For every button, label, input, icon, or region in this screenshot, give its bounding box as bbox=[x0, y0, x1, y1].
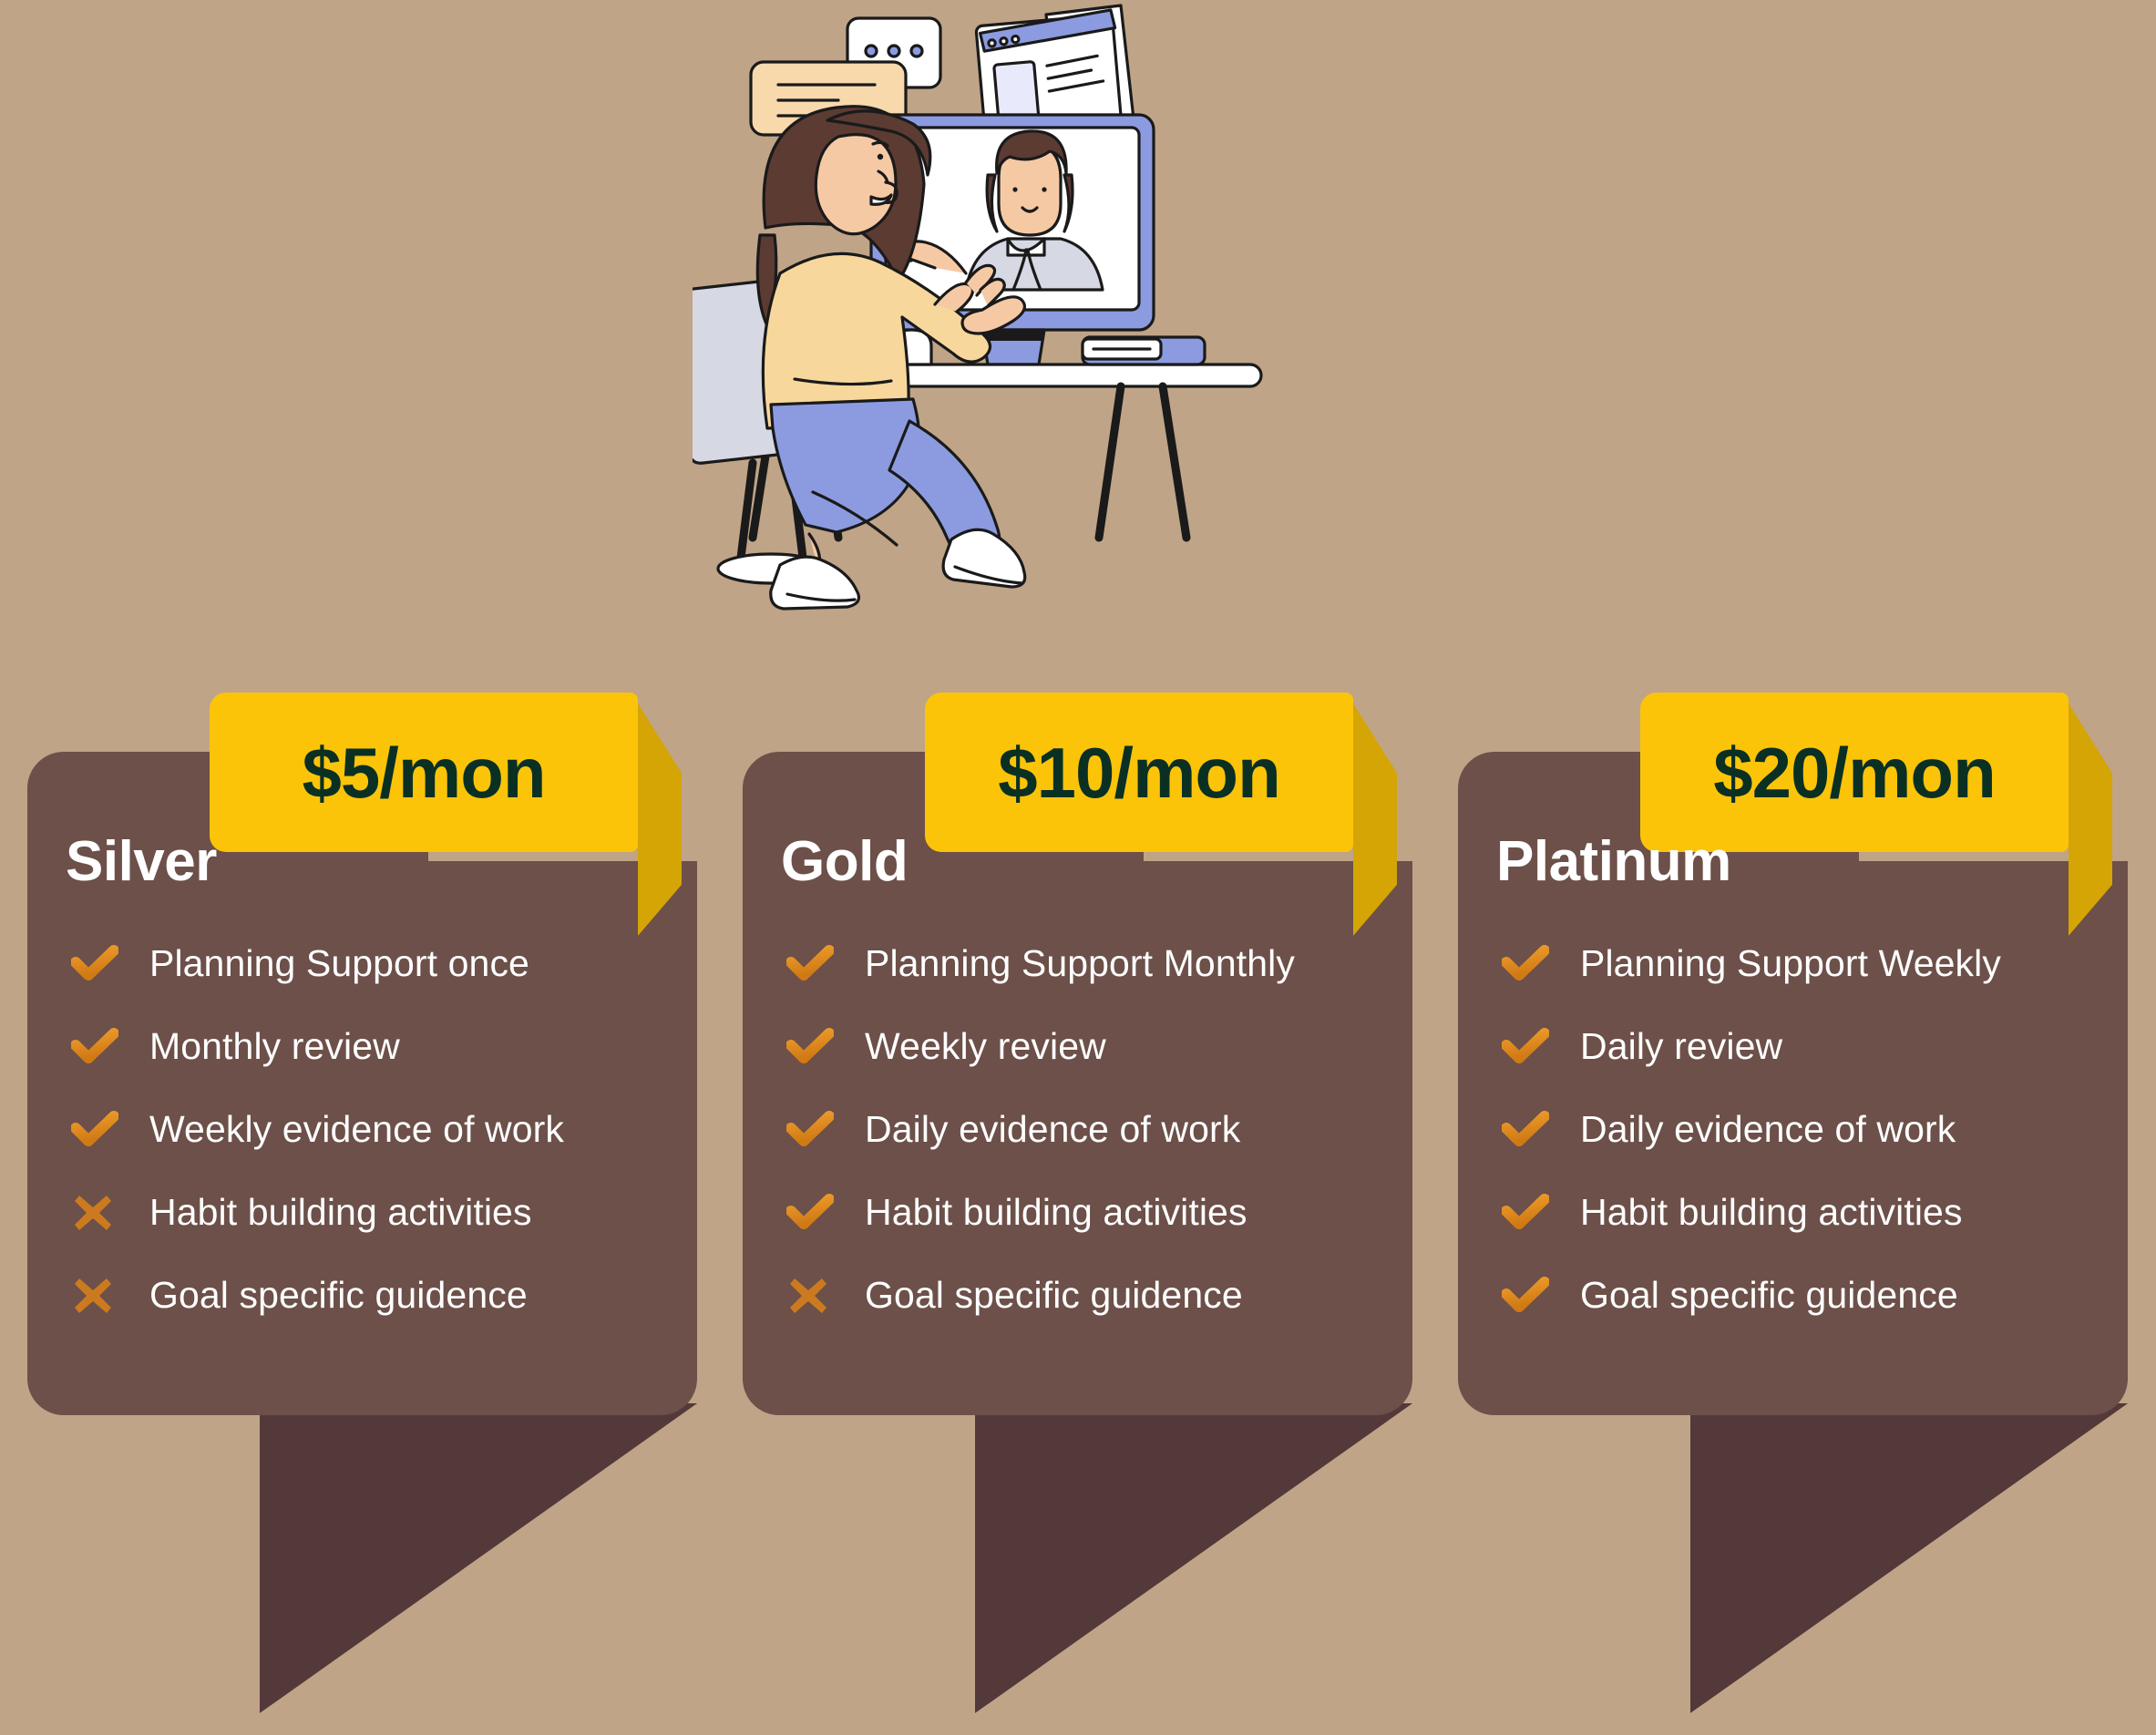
cross-icon bbox=[786, 1275, 865, 1317]
feature-item: Goal specific guidence bbox=[71, 1254, 672, 1337]
feature-label: Goal specific guidence bbox=[865, 1274, 1243, 1317]
video-call-illustration bbox=[693, 0, 1330, 638]
feature-label: Weekly review bbox=[865, 1025, 1106, 1068]
feature-list: Planning Support once Monthly review bbox=[71, 922, 672, 1337]
feature-label: Habit building activities bbox=[149, 1191, 532, 1234]
price-badge: $10/mon bbox=[925, 693, 1353, 852]
feature-item: Daily review bbox=[1502, 1005, 2103, 1088]
feature-item: Habit building activities bbox=[1502, 1171, 2103, 1254]
feature-item: Planning Support Weekly bbox=[1502, 922, 2103, 1005]
pricing-plans: $5/mon Silver Planning Support once bbox=[0, 693, 2156, 1735]
card-bottom-fold bbox=[1690, 1403, 2128, 1713]
plan-title: Silver bbox=[66, 829, 217, 894]
feature-item: Goal specific guidence bbox=[1502, 1254, 2103, 1337]
feature-item: Weekly evidence of work bbox=[71, 1088, 672, 1171]
pricing-plan-gold[interactable]: $10/mon Gold Planning Support Monthly bbox=[743, 693, 1426, 1735]
feature-label: Weekly evidence of work bbox=[149, 1108, 564, 1151]
check-icon bbox=[1502, 1028, 1580, 1066]
feature-label: Goal specific guidence bbox=[1580, 1274, 1958, 1317]
price-label: $10/mon bbox=[998, 737, 1279, 808]
check-icon bbox=[786, 1111, 865, 1149]
check-icon bbox=[71, 945, 149, 983]
check-icon bbox=[786, 1194, 865, 1232]
feature-label: Daily evidence of work bbox=[865, 1108, 1240, 1151]
feature-item: Planning Support Monthly bbox=[786, 922, 1388, 1005]
check-icon bbox=[71, 1111, 149, 1149]
price-badge: $5/mon bbox=[210, 693, 638, 852]
cross-icon bbox=[71, 1275, 149, 1317]
feature-item: Daily evidence of work bbox=[1502, 1088, 2103, 1171]
feature-label: Planning Support Weekly bbox=[1580, 942, 2001, 985]
check-icon bbox=[786, 945, 865, 983]
feature-item: Goal specific guidence bbox=[786, 1254, 1388, 1337]
feature-label: Daily evidence of work bbox=[1580, 1108, 1956, 1151]
feature-label: Planning Support Monthly bbox=[865, 942, 1295, 985]
feature-list: Planning Support Monthly Weekly review bbox=[786, 922, 1388, 1337]
feature-label: Planning Support once bbox=[149, 942, 529, 985]
card-bottom-fold bbox=[975, 1403, 1412, 1713]
cross-icon bbox=[71, 1192, 149, 1234]
price-label: $5/mon bbox=[302, 737, 545, 808]
feature-label: Goal specific guidence bbox=[149, 1274, 528, 1317]
plan-title: Gold bbox=[781, 829, 908, 894]
plan-title: Platinum bbox=[1496, 829, 1731, 894]
check-icon bbox=[1502, 1111, 1580, 1149]
card-bottom-fold bbox=[260, 1403, 697, 1713]
check-icon bbox=[1502, 1194, 1580, 1232]
check-icon bbox=[1502, 945, 1580, 983]
check-icon bbox=[1502, 1277, 1580, 1315]
feature-item: Weekly review bbox=[786, 1005, 1388, 1088]
pricing-page: $5/mon Silver Planning Support once bbox=[0, 0, 2156, 1735]
check-icon bbox=[71, 1028, 149, 1066]
pricing-plan-platinum[interactable]: $20/mon Platinum Planning Support Weekly bbox=[1458, 693, 2141, 1735]
feature-item: Planning Support once bbox=[71, 922, 672, 1005]
feature-list: Planning Support Weekly Daily review bbox=[1502, 922, 2103, 1337]
feature-item: Daily evidence of work bbox=[786, 1088, 1388, 1171]
pricing-plan-silver[interactable]: $5/mon Silver Planning Support once bbox=[27, 693, 711, 1735]
check-icon bbox=[786, 1028, 865, 1066]
feature-item: Habit building activities bbox=[786, 1171, 1388, 1254]
feature-item: Habit building activities bbox=[71, 1171, 672, 1254]
feature-label: Daily review bbox=[1580, 1025, 1782, 1068]
keyboard-icon bbox=[1083, 337, 1205, 364]
feature-item: Monthly review bbox=[71, 1005, 672, 1088]
feature-label: Monthly review bbox=[149, 1025, 400, 1068]
feature-label: Habit building activities bbox=[1580, 1191, 1963, 1234]
price-badge: $20/mon bbox=[1640, 693, 2069, 852]
feature-label: Habit building activities bbox=[865, 1191, 1247, 1234]
price-label: $20/mon bbox=[1713, 737, 1995, 808]
